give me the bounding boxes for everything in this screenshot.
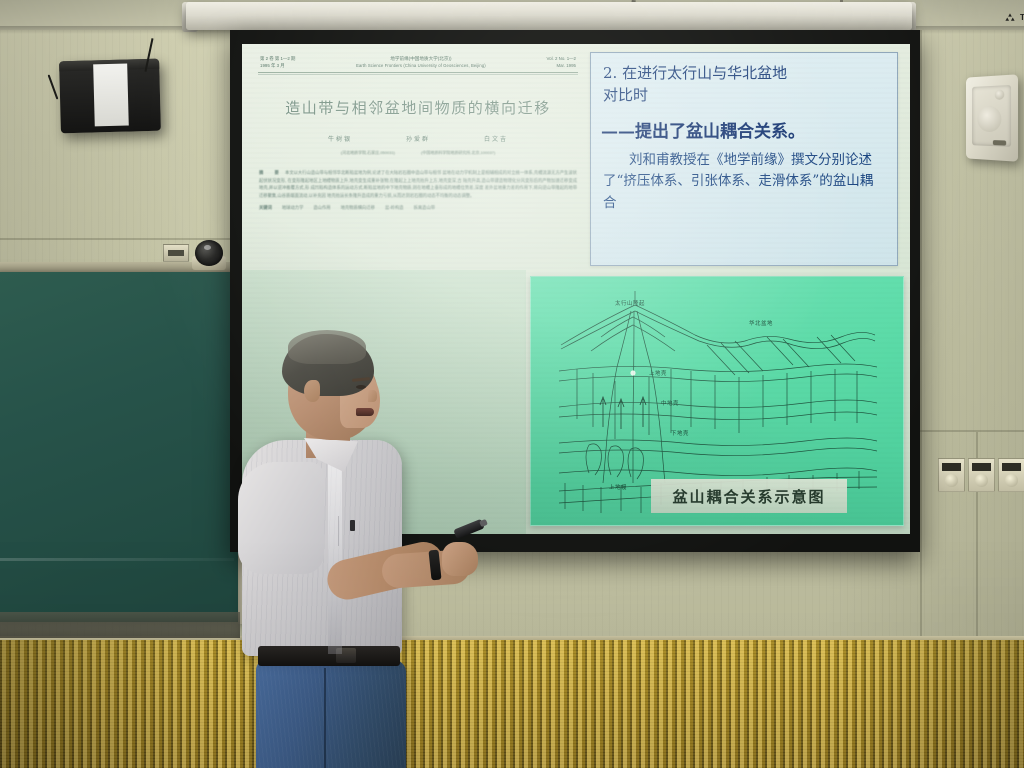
projector-screen-case[interactable]: THREELEAVES	[186, 2, 912, 30]
presenter-ear	[304, 380, 320, 402]
presenter-jeans	[256, 660, 406, 768]
journal-date-line: 1995 年 3 月	[260, 63, 295, 70]
affiliation: (河北地质学院,石家庄,050031)	[341, 150, 395, 156]
abstract-label: 摘 要	[259, 170, 284, 175]
paper-title: 造山带与相邻盆地间物质的横向迁移	[254, 97, 582, 118]
wall-data-plate	[163, 244, 189, 262]
author-name: 白文吉	[484, 134, 508, 143]
journal-rule	[258, 74, 578, 75]
presenter-shirt-placket	[328, 464, 342, 654]
journal-volume-line1: 第 2 卷 第 1—2 期	[260, 56, 295, 63]
paper-authors: 牛树银 孙爱群 白文吉	[254, 134, 582, 143]
keyword: 拆离造山带	[414, 205, 435, 211]
blue-box-line3: ——提出了盆山耦合关系。	[591, 107, 897, 142]
journal-name-cn: 地学前缘(中国地质大学(北京))	[356, 56, 486, 63]
volume-knob-1[interactable]	[938, 458, 965, 492]
wall-speaker	[966, 74, 1018, 162]
abstract-line: 本文以大行山造山带与相邻华北断陷盆地为例,论述了在大陆岩石圈中造山带与相邻	[285, 170, 441, 175]
presenter-nose	[368, 390, 377, 402]
desk-edge	[0, 612, 240, 638]
chalkboard-highlight	[0, 558, 234, 561]
author-name: 孙爱群	[406, 134, 430, 143]
journal-header: 第 2 卷 第 1—2 期 1995 年 3 月 地学前缘(中国地质大学(北京)…	[254, 56, 582, 69]
blue-box-line2: 对比时	[591, 85, 897, 107]
screen-brand-label: THREELEAVES	[1020, 13, 1024, 22]
laser-pointer-tip	[479, 519, 488, 527]
green-chalkboard	[0, 272, 246, 622]
blue-box-line4: 刘和甫教授在《地学前缘》撰文分别论述了“挤压体系、引张体系、走滑体系”的盆山耦合	[591, 142, 897, 216]
affiliation: (中国地质科学院地质研究所,北京,100037)	[421, 150, 495, 156]
diagram-label-basin: 华北盆地	[749, 319, 773, 327]
diagram-label-uplift: 太行山隆起	[615, 299, 645, 307]
paper-abstract: 摘 要 本文以大行山造山带与相邻华北断陷盆地为例,论述了在大陆岩石圈中造山带与相…	[254, 169, 582, 199]
diagram-label-upper-crust: 上地壳	[649, 369, 667, 377]
diagram-label-upper-mantle: 上地幔	[609, 483, 627, 491]
wall-volume-controls[interactable]	[938, 458, 1024, 508]
journal-paper-scan: 第 2 卷 第 1—2 期 1995 年 3 月 地学前缘(中国地质大学(北京)…	[254, 56, 582, 304]
diagram-caption-box: 盆山耦合关系示意图	[651, 479, 847, 513]
three-leaves-logo-icon	[1004, 12, 1016, 23]
paper-affiliations: (河北地质学院,石家庄,050031) (中国地质科学院地质研究所,北京,100…	[254, 150, 582, 156]
keyword: 造山作用	[313, 205, 330, 211]
keyword: 地球动力学	[282, 205, 303, 211]
journal-volume-right: Vol. 2 No. 1—2	[546, 56, 576, 63]
journal-month-right: Mar. 1995	[546, 63, 576, 70]
presenter-mouth	[356, 408, 374, 416]
presenter-eye	[356, 385, 366, 389]
paper-keywords: 关键词 地球动力学 造山作用 地壳物质横向迁移 盆-岭构造 拆离造山带	[254, 205, 582, 211]
blue-box-line1: 2. 在进行太行山与华北盆地	[591, 53, 897, 85]
presenter-jeans-seam	[324, 668, 326, 768]
wainscot-shading-left	[0, 640, 220, 768]
abstract-line: 成凹陷构造体系的运动方式,断陷盆地的中下地壳物质,则在地幔上垂形成的地幔位势差,…	[310, 185, 483, 190]
keywords-label: 关键词	[259, 205, 272, 211]
wainscot-shading-right	[854, 640, 1024, 768]
dome-camera-icon	[192, 240, 226, 270]
journal-name-en: Earth Science Frontiers (China Universit…	[356, 63, 486, 69]
diagram-label-middle-crust: 中地壳	[661, 399, 679, 407]
keyword: 盆-岭构造	[385, 205, 404, 211]
presenter	[232, 328, 492, 768]
presenter-hair-highlight	[288, 330, 366, 364]
keyword: 地壳物质横向迁移	[341, 205, 375, 211]
screen-brand: THREELEAVES	[1004, 12, 1024, 23]
abstract-line: 地壳抬运长条隆升造成的重力亏损,从而达到岩石圈的动态不均衡的动态调整。	[327, 193, 474, 198]
presenter-sleeve	[238, 462, 324, 574]
diagram-label-lower-crust: 下地壳	[671, 429, 689, 437]
author-name: 牛树银	[328, 134, 352, 143]
volume-knob-2[interactable]	[968, 458, 995, 492]
abstract-line: 在变形隆起地区上地幔物质上升,地壳变生成重补张物,在隆起上上地壳抬升上方,地壳变…	[287, 178, 461, 183]
presenter-hand	[442, 542, 478, 576]
volume-knob-3[interactable]	[998, 458, 1024, 492]
lecture-hall-photo: THREELEAVES 第 2 卷 第 1—2 期 1995 年 3 月 地学前…	[0, 0, 1024, 768]
basin-mountain-coupling-diagram: 太行山隆起 华北盆地 上地壳 中地壳 下地壳 上地幔 盆山耦合关系示意图	[530, 276, 904, 526]
slide-blue-textbox: 2. 在进行太行山与华北盆地 对比时 ——提出了盆山耦合关系。 刘和甫教授在《地…	[590, 52, 898, 266]
presenter-pocket-pen	[350, 520, 355, 531]
journal-rule	[258, 72, 578, 73]
diagram-caption: 盆山耦合关系示意图	[672, 486, 825, 507]
